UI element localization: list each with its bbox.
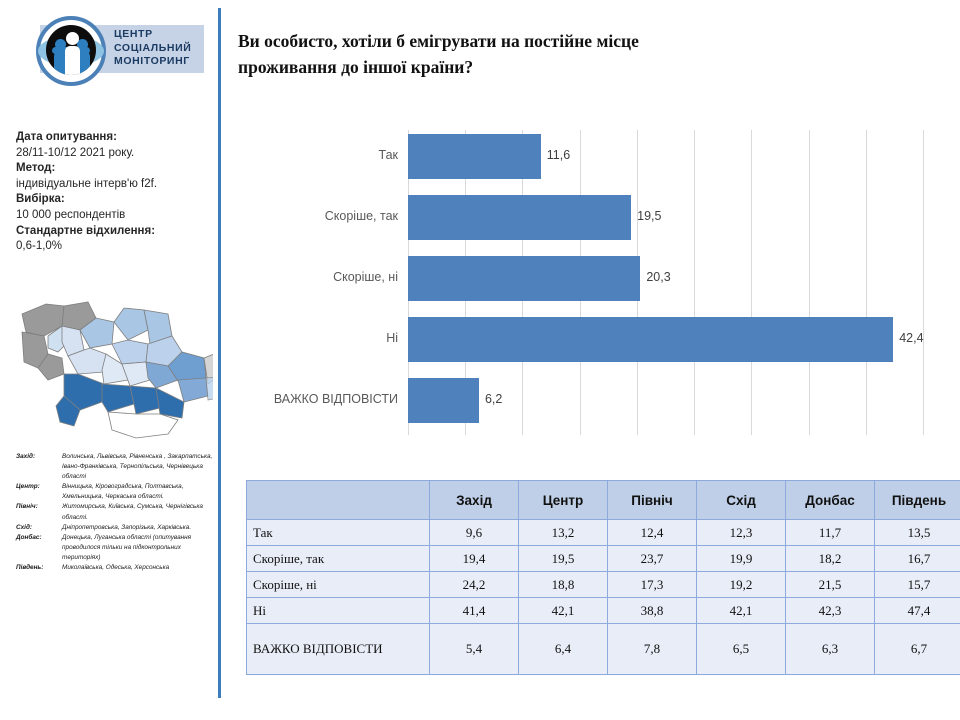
table-row: Так9,613,212,412,311,713,57,4 [247,520,960,546]
chart-bar-value-label: 19,5 [637,209,661,223]
table-cell: 38,8 [608,598,697,624]
table-cell: 18,2 [786,546,875,572]
figure-body [65,46,80,75]
chart-bar [408,134,541,179]
region-name: Центр: [16,482,62,502]
region-legend-row: Центр: Вінницька, Кіровоградська, Полтав… [16,482,216,502]
title-line-1: Ви особисто, хотіли б емігрувати на пост… [238,28,938,54]
table-row: Скоріше, так19,419,523,719,918,216,717,6 [247,546,960,572]
meta-value: індивідуальне інтерв'ю f2f. [16,177,216,193]
region-oblasts: Донецька, Луганська області (опитування … [62,533,216,563]
table-cell: 6,4 [519,624,608,675]
regions-legend: Захід: Волинська, Львівська, Рівненська … [16,452,216,573]
chart-gridline [809,130,810,435]
table-row-header: ВАЖКО ВІДПОВІСТИ [247,624,430,675]
table-cell: 19,2 [697,572,786,598]
meta-label: Вибірка: [16,192,216,208]
logo-line-2: СОЦІАЛЬНИЙ [114,42,218,56]
meta-label: Дата опитування: [16,130,216,146]
vertical-divider [218,8,221,698]
ukraine-map-svg [18,292,213,440]
table-cell: 7,8 [608,624,697,675]
table-cell: 19,4 [430,546,519,572]
table-cell: 16,7 [875,546,960,572]
region-name: Північ: [16,502,62,522]
figure-head [66,32,79,45]
logo-line-3: МОНІТОРИНГ [114,55,218,69]
chart-bar [408,378,479,423]
chart-category-label: Скоріше, так [250,209,398,223]
chart-gridline [694,130,695,435]
region-legend-row: Схід: Дніпропетровська, Запорізька, Харк… [16,523,216,533]
meta-value: 0,6-1,0% [16,239,216,255]
table-column-header: Схід [697,481,786,520]
region-legend-row: Південь: Миколаївська, Одеська, Херсонсь… [16,563,216,573]
table-cell: 41,4 [430,598,519,624]
table-header-row: ЗахідЦентрПівнічСхідДонбасПівденьм. Київ [247,481,960,520]
table-cell: 18,8 [519,572,608,598]
table-cell: 5,4 [430,624,519,675]
table-cell: 42,1 [519,598,608,624]
table-cell: 17,3 [608,572,697,598]
regional-breakdown-table: ЗахідЦентрПівнічСхідДонбасПівденьм. Київ… [246,480,948,675]
logo-line-1: ЦЕНТР [114,28,218,42]
meta-value: 10 000 респондентів [16,208,216,224]
chart-bar-value-label: 6,2 [485,392,502,406]
table-row-header: Скоріше, так [247,546,430,572]
table-row-header: Скоріше, ні [247,572,430,598]
table-cell: 21,5 [786,572,875,598]
table-column-header: Донбас [786,481,875,520]
region-oblasts: Волинська, Львівська, Рівненська , Закар… [62,452,216,482]
table-row-header: Ні [247,598,430,624]
bar-chart: Так11,6Скоріше, так19,5Скоріше, ні20,3Ні… [250,118,950,448]
table-row-header: Так [247,520,430,546]
sidebar: ЦЕНТР СОЦІАЛЬНИЙ МОНІТОРИНГ Дата опитува… [0,0,218,720]
table-head: ЗахідЦентрПівнічСхідДонбасПівденьм. Київ [247,481,960,520]
chart-bar [408,317,893,362]
chart-bar-value-label: 42,4 [899,331,923,345]
table-cell: 42,3 [786,598,875,624]
region-oblasts: Дніпропетровська, Запорізька, Харківська… [62,523,216,533]
organization-logo: ЦЕНТР СОЦІАЛЬНИЙ МОНІТОРИНГ [18,12,204,86]
table-column-header: Північ [608,481,697,520]
region-legend-row: Донбас: Донецька, Луганська області (опи… [16,533,216,563]
table-cell: 6,5 [697,624,786,675]
table-column-header: Центр [519,481,608,520]
chart-category-label: Так [250,148,398,162]
meta-item-deviation: Стандартне відхилення: 0,6-1,0% [16,224,216,255]
chart-bar-value-label: 11,6 [547,148,570,162]
table-corner-cell [247,481,430,520]
table-cell: 12,4 [608,520,697,546]
logo-people-icon [46,25,96,75]
region-oblasts: Миколаївська, Одеська, Херсонська [62,563,216,573]
chart-category-label: Ні [250,331,398,345]
chart-gridline [751,130,752,435]
meta-item-method: Метод: індивідуальне інтерв'ю f2f. [16,161,216,192]
table-cell: 6,3 [786,624,875,675]
region-legend-row: Захід: Волинська, Львівська, Рівненська … [16,452,216,482]
chart-gridline [923,130,924,435]
table-cell: 9,6 [430,520,519,546]
meta-label: Стандартне відхилення: [16,224,216,240]
table-cell: 47,4 [875,598,960,624]
region-oblasts: Житомирська, Київська, Сумська, Чернігів… [62,502,216,522]
table-row: Ні41,442,138,842,142,347,445,7 [247,598,960,624]
table-cell: 19,5 [519,546,608,572]
table-cell: 19,9 [697,546,786,572]
table-cell: 11,7 [786,520,875,546]
table-cell: 24,2 [430,572,519,598]
table-cell: 12,3 [697,520,786,546]
region-name: Південь: [16,563,62,573]
meta-label: Метод: [16,161,216,177]
chart-category-label: Скоріше, ні [250,270,398,284]
chart-category-label: ВАЖКО ВІДПОВІСТИ [250,392,398,406]
table-cell: 23,7 [608,546,697,572]
chart-bar-value-label: 20,3 [646,270,670,284]
table-cell: 6,7 [875,624,960,675]
meta-item-date: Дата опитування: 28/11-10/12 2021 року. [16,130,216,161]
data-table: ЗахідЦентрПівнічСхідДонбасПівденьм. Київ… [246,480,960,675]
meta-value: 28/11-10/12 2021 року. [16,146,216,162]
table-column-header: Південь [875,481,960,520]
table-row: Скоріше, ні24,218,817,319,221,515,725,9 [247,572,960,598]
region-legend-row: Північ: Житомирська, Київська, Сумська, … [16,502,216,522]
region-name: Схід: [16,523,62,533]
table-cell: 13,2 [519,520,608,546]
title-line-2: проживання до іншої країни? [238,54,938,80]
table-cell: 42,1 [697,598,786,624]
region-oblasts: Вінницька, Кіровоградська, Полтавська, Х… [62,482,216,502]
region-name: Захід: [16,452,62,482]
table-body: Так9,613,212,412,311,713,57,4Скоріше, та… [247,520,960,675]
chart-bar [408,256,640,301]
table-cell: 13,5 [875,520,960,546]
meta-item-sample: Вибірка: 10 000 респондентів [16,192,216,223]
logo-wordmark: ЦЕНТР СОЦІАЛЬНИЙ МОНІТОРИНГ [114,28,218,69]
logo-figure-middle [65,32,79,75]
table-row: ВАЖКО ВІДПОВІСТИ5,46,47,86,56,36,73,4 [247,624,960,675]
chart-gridline [866,130,867,435]
survey-methodology-block: Дата опитування: 28/11-10/12 2021 року. … [16,130,216,255]
table-cell: 15,7 [875,572,960,598]
table-column-header: Захід [430,481,519,520]
ukraine-map-image [18,292,213,440]
page-title: Ви особисто, хотіли б емігрувати на пост… [238,28,938,80]
chart-bar [408,195,631,240]
region-name: Донбас: [16,533,62,563]
